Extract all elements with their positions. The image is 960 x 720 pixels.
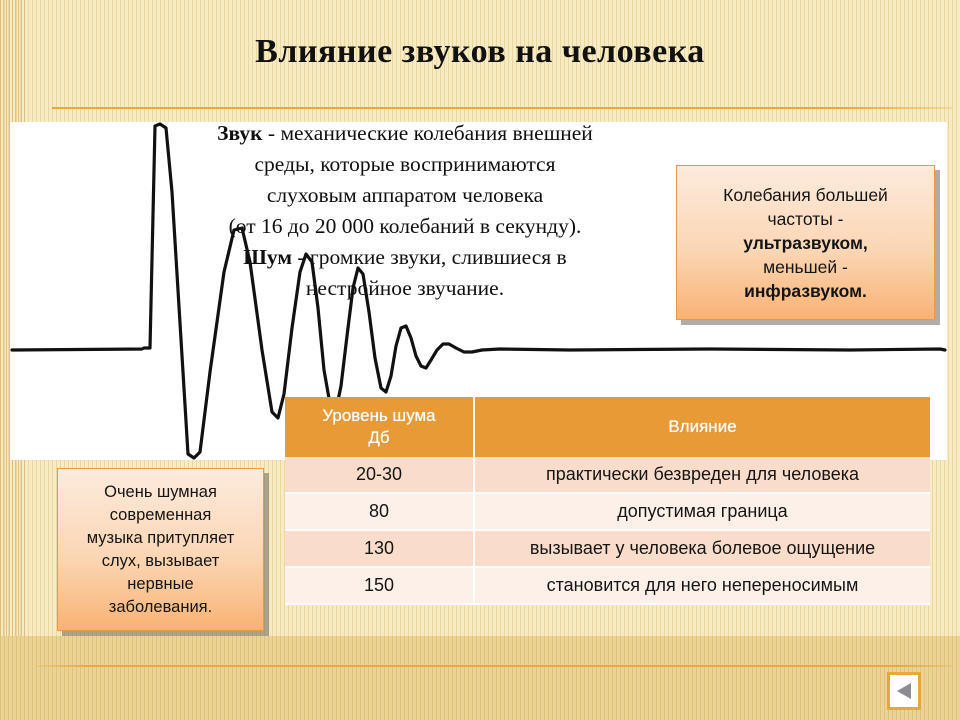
callout-music-line-3: музыка притупляет (87, 529, 235, 547)
triangle-left-icon (894, 681, 914, 701)
table-cell-level: 20-30 (285, 457, 474, 493)
footer-divider (36, 665, 952, 667)
table-header-level-line1: Уровень шума (322, 406, 435, 425)
callout-frequency-line-4: меньшей - (763, 257, 848, 277)
definition-line-6: нестройное звучание. (306, 276, 504, 300)
table-cell-effect: вызывает у человека болевое ощущение (474, 530, 930, 567)
table-header-effect: Влияние (474, 397, 930, 457)
table-cell-effect: практически безвреден для человека (474, 457, 930, 493)
noise-level-table: Уровень шума Дб Влияние 20-30 практическ… (285, 397, 930, 605)
callout-loud-music-text: Очень шумная современная музыка притупля… (77, 477, 245, 623)
callout-frequency-text: Колебания большей частоты - ультразвуком… (713, 179, 898, 307)
table-header-level: Уровень шума Дб (285, 397, 474, 457)
definition-line-5: Шум - громкие звуки, слившиеся в (243, 245, 566, 269)
definition-line-4: (от 16 до 20 000 колебаний в секунду). (229, 214, 582, 238)
back-button[interactable] (887, 672, 921, 710)
callout-loud-music: Очень шумная современная музыка притупля… (57, 468, 264, 631)
table-header: Уровень шума Дб Влияние (285, 397, 930, 457)
table-row: 20-30 практически безвреден для человека (285, 457, 930, 493)
table-header-effect-label: Влияние (668, 417, 736, 436)
callout-music-line-6: заболевания. (109, 598, 212, 616)
table-cell-level: 150 (285, 567, 474, 604)
definition-text: Звук - механические колебания внешней ср… (150, 118, 660, 304)
table-row: 150 становится для него непереносимым (285, 567, 930, 604)
term-sound: Звук (217, 121, 262, 145)
callout-frequency-infrasound: инфразвуком. (744, 281, 867, 301)
slide: Влияние звуков на человека Звук - механи… (0, 0, 960, 720)
table-cell-level: 80 (285, 493, 474, 530)
footer-band (0, 636, 960, 720)
table-header-row: Уровень шума Дб Влияние (285, 397, 930, 457)
callout-frequency-line-1: Колебания большей (723, 185, 888, 205)
definition-line-2: среды, которые воспринимаются (255, 152, 556, 176)
callout-music-line-2: современная (110, 506, 212, 524)
callout-frequency: Колебания большей частоты - ультразвуком… (676, 165, 935, 320)
table-cell-level: 130 (285, 530, 474, 567)
table-cell-effect: допустимая граница (474, 493, 930, 530)
callout-frequency-line-2: частоты - (767, 209, 843, 229)
callout-music-line-4: слух, вызывает (102, 552, 220, 570)
definition-line-1: Звук - механические колебания внешней (217, 121, 593, 145)
term-noise: Шум (243, 245, 292, 269)
callout-frequency-ultrasound: ультразвуком, (743, 233, 868, 253)
definition-line-3: слуховым аппаратом человека (267, 183, 543, 207)
page-title: Влияние звуков на человека (0, 33, 960, 71)
table-row: 80 допустимая граница (285, 493, 930, 530)
table-cell-effect: становится для него непереносимым (474, 567, 930, 604)
callout-music-line-5: нервные (127, 575, 193, 593)
title-divider (52, 107, 952, 109)
table-body: 20-30 практически безвреден для человека… (285, 457, 930, 604)
table-row: 130 вызывает у человека болевое ощущение (285, 530, 930, 567)
table-header-level-line2: Дб (368, 428, 389, 447)
callout-music-line-1: Очень шумная (104, 483, 217, 501)
